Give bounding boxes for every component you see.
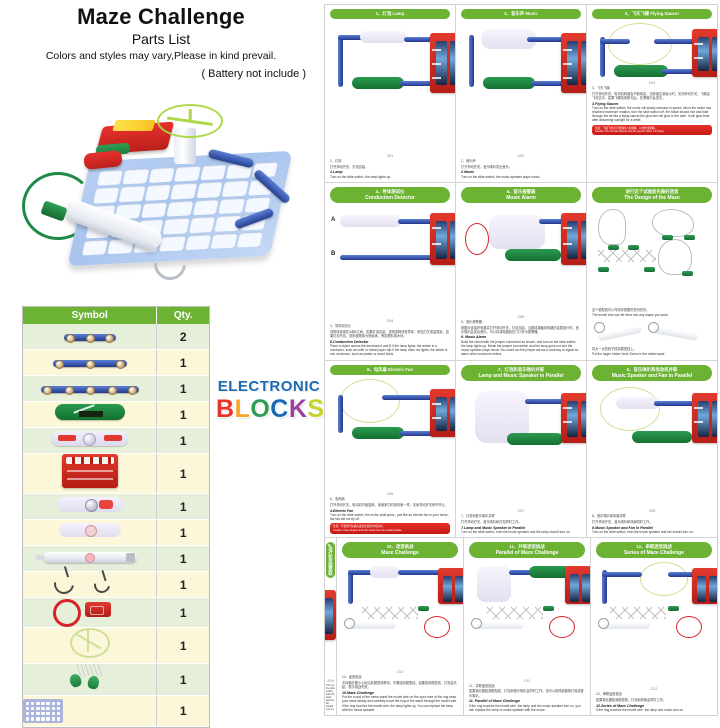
metal-hooks-icon: [50, 572, 130, 592]
card-body-cn: 将物体放置在A和B之间，如果灯泡亮起，说明该物体是导体，例如刀叉或金属纸。如果灯…: [330, 330, 450, 338]
maze-note2-en: Put the larger holder hook Screw in the …: [592, 352, 712, 356]
card-body-cn: 打开滑动开关，电动机转速会不断增加，当转速达到最大时，关闭滑动开关，飞碟会飞向空…: [592, 92, 712, 100]
part-symbol-cell: [23, 376, 157, 402]
card-body-en: Build the circuit with the jumper connec…: [461, 340, 581, 357]
card-figure: 211: [469, 560, 585, 683]
card-figure: 209: [326, 580, 335, 683]
card-figure: 212: [596, 560, 712, 691]
card-music[interactable]: 2、音乐声 Music 202 2、音乐声 打开滑动开关，音乐喚叭发出音乐。: [456, 5, 587, 182]
card-title-en: Parallel of Maze Challenge: [471, 550, 583, 556]
left-column: Maze Challenge Parts List Colors and sty…: [0, 0, 322, 720]
card-row-1: 1、灯泡 Lamp 201 1、灯泡 打开滑动开关，灯泡亮: [325, 5, 717, 183]
card-body-cn: 如果钢丝圈碰到模型线，灯泡和音乐喚叭会同时工作。也可以用风扇替换灯泡或音乐喚叭。: [469, 689, 585, 697]
card-body-cn-title: 8、音乐喚叭和风扇并联: [592, 514, 712, 518]
table-row: 1: [23, 494, 209, 520]
card-series-maze[interactable]: 12、串联迷宫挑战 Series of Maze Challenge: [591, 538, 717, 715]
card-body-cn-title: 7、灯泡和音乐喚叭并联: [461, 514, 581, 518]
card-header: 7、灯泡和音乐喚叭并联 Lamp and Music Speaker in Pa…: [461, 365, 581, 381]
card-body-cn-title: 1、灯泡: [330, 159, 450, 163]
part-qty: 1: [157, 428, 209, 454]
card-figure: 203: [592, 21, 712, 85]
battery-note: ( Battery not include ): [0, 67, 322, 82]
battery-holder-icon: [62, 454, 118, 488]
card-maze-design[interactable]: 进行这个试验前先做好迷宫 The Design of the Maze: [587, 183, 717, 360]
terminal-label-b: B: [331, 251, 335, 257]
part-symbol-cell: [23, 428, 157, 454]
part-qty: 2: [157, 324, 209, 350]
poster-root: Maze Challenge Parts List Colors and sty…: [0, 0, 720, 720]
part-symbol-cell: [23, 402, 157, 428]
card-title-cn: 12、串联迷宫挑战: [598, 544, 710, 550]
led-lights-icon: [66, 664, 114, 690]
logo-blocks-text: BLOCKS: [216, 396, 322, 423]
logo-letter-c: C: [270, 395, 289, 423]
slide-switch-icon: [55, 404, 125, 420]
card-lamp-fan-series-clipped[interactable]: 9、电灯和风扇串联 209 Turn on the slide switch, …: [325, 538, 337, 715]
table-row: 1: [23, 572, 209, 598]
logo-letter-o: O: [250, 395, 270, 423]
probe-wand-icon: [43, 552, 137, 563]
card-conduction-detector[interactable]: 4、导体测试仪 Conduction Detector A B 204 4、导体…: [325, 183, 456, 360]
card-music-alarm[interactable]: 5、音乐报警器 Music Alarm 205 5、音乐报警器 按图示连接好电路…: [456, 183, 587, 360]
page-title: Maze Challenge: [0, 4, 322, 30]
maze-shape-squirrel: [598, 209, 626, 245]
music-speaker-icon: [57, 497, 123, 512]
warning-box: 注意：不要把手指或头发靠近旋转中的扇叶。 Caution: Keep finge…: [330, 523, 450, 534]
card-body-cn: 打开滑动开关，音乐喚叭和灯泡同时工作。: [461, 520, 581, 524]
table-row: 2: [23, 324, 209, 350]
product-photo: [22, 96, 322, 296]
card-header: 2、音乐声 Music: [461, 9, 581, 19]
3-snap-wire-icon: [53, 360, 127, 367]
maze-note2-cn: 将大一点的钩子插到模型线上。: [592, 347, 712, 351]
card-figure: 207: [461, 383, 581, 514]
card-figure-probes: [592, 320, 712, 346]
logo-electronic-text: ELECTRONIC: [216, 378, 322, 396]
figure-number: 209: [327, 678, 334, 683]
fan-blade-icon: [70, 628, 110, 658]
card-title-cn: 10、迷宫挑战: [344, 544, 456, 550]
part-qty: 1: [157, 494, 209, 520]
card-figure: 206: [330, 377, 450, 497]
5-snap-wire-icon: [41, 386, 139, 393]
card-parallel-maze[interactable]: 11、并联迷宫挑战 Parallel of Maze Challenge: [464, 538, 591, 715]
fan-blade-photo: [157, 104, 223, 138]
card-body: 8、音乐喚叭和风扇并联 打开滑动开关，音乐喚叭和风扇同时工作。 8.Music …: [592, 514, 712, 534]
card-body-cn: 按图示连接好电路并打开滑动开关，灯泡亮起。当跳线接触到电路的金属部分时，音乐喚叭…: [461, 326, 581, 334]
table-row: 1: [23, 628, 209, 664]
card-title-cn: 11、并联迷宫挑战: [471, 544, 583, 550]
card-body-cn-title: 4、导体测试仪: [330, 324, 450, 328]
card-body-en: Turn on the slide switch, both the music…: [592, 530, 712, 534]
part-symbol-cell: [23, 324, 157, 350]
card-body: 11、并联迷宫挑战 如果钢丝圈碰到模型线，灯泡和音乐喚叭会同时工作。也可以用风扇…: [469, 684, 585, 712]
card-body-en: Turn on the slide switch, the music spea…: [461, 175, 581, 179]
warning-cn: 注意：不要把手指或头发靠近旋转中的扇叶。: [333, 525, 385, 528]
figure-number: 212: [651, 686, 658, 691]
yellow-block-photo: [112, 120, 156, 131]
part-qty: 1: [157, 696, 209, 727]
figure-number: 207: [518, 508, 525, 513]
table-row: 1: [23, 664, 209, 696]
card-body: 6、电风扇 打开滑动开关，电动机开始旋转，就像家中的电风扇一样。关闭滑动开关即可…: [330, 497, 450, 534]
table-row: 1: [23, 598, 209, 628]
card-title-en: Music Speaker and Fan in Parallel: [594, 373, 710, 379]
card-figure: 201: [330, 21, 450, 158]
table-row: 1: [23, 454, 209, 494]
part-symbol-cell: [23, 520, 157, 546]
table-row: 1: [23, 402, 209, 428]
card-figure: 208: [592, 383, 712, 514]
part-symbol-cell: [23, 664, 157, 696]
part-symbol-cell: [23, 598, 157, 628]
terminal-label-a: A: [331, 217, 335, 223]
card-body-en: Turn on the slide switch, both the music…: [461, 530, 581, 534]
instruction-card-grid: 1、灯泡 Lamp 201 1、灯泡 打开滑动开关，灯泡亮: [324, 4, 718, 716]
card-title-cn: 4、导体测试仪: [332, 189, 448, 195]
card-body-cn: 打开滑动开关，电动机开始旋转，就像家中的电风扇一样。关闭滑动开关即可停止。: [330, 503, 450, 507]
card-body: Turn on the slide switch, both the lamp …: [326, 684, 335, 711]
card-body: 12、串联迷宫挑战 如果钢丝圈碰到模型线，灯泡和风扇会同时工作。 12.Seri…: [596, 692, 712, 712]
figure-number: 210: [397, 669, 404, 674]
maze-shape-cat: [652, 209, 694, 237]
card-header: 进行这个试验前先做好迷宫 The Design of the Maze: [592, 187, 712, 203]
logo-letter-l: L: [235, 395, 251, 423]
card-title-cn: 3、飞天飞碟 Flying Saucer: [594, 11, 710, 17]
figure-number: 201: [387, 153, 394, 158]
card-title-cn: 5、音乐报警器: [463, 189, 579, 195]
card-body-en: Turn on the slide switch, the lamp light…: [330, 175, 450, 179]
card-title-en: Series of Maze Challenge: [598, 550, 710, 556]
title-block: Maze Challenge Parts List Colors and sty…: [0, 4, 322, 82]
part-qty: 1: [157, 664, 209, 696]
card-header: 11、并联迷宫挑战 Parallel of Maze Challenge: [469, 542, 585, 558]
card-body-en: If the ring touches the model wire ,the …: [596, 708, 712, 712]
card-row-3: 6、电风扇 Electric Fan 206 6、电风扇 打开滑动开关，电动机开…: [325, 361, 717, 539]
card-body-en: Turn on the slide switch, the motor shal…: [330, 513, 450, 521]
card-body-cn-title: 5、音乐报警器: [461, 320, 581, 324]
card-body: 3、飞天飞碟 打开滑动开关，电动机转速会不断增加，当转速达到最大时，关闭滑动开关…: [592, 86, 712, 135]
table-row: 1: [23, 350, 209, 376]
red-ring-clip-icon: [51, 598, 129, 622]
card-body-cn: 打开滑动开关，音乐喚叭和风扇同时工作。: [592, 520, 712, 524]
card-body: 5、音乐报警器 按图示连接好电路并打开滑动开关，灯泡亮起。当跳线接触到电路的金属…: [461, 320, 581, 357]
card-body-en: Turn on the slide switch, the motor will…: [592, 106, 712, 123]
warning-en: Caution: Keep fingers and hair away from…: [333, 529, 447, 532]
card-title-cn: 9、电灯和风扇串联: [328, 544, 333, 576]
card-title-cn: 8、音乐喚叭和电动机并联: [594, 367, 710, 373]
maze-shape-head: [658, 239, 692, 275]
card-flying-saucer[interactable]: 3、飞天飞碟 Flying Saucer 203 3、飞天飞碟: [587, 5, 717, 182]
warning-box: 注意：飞碟飞出时不要朝向人的眼睛，以免伤害眼睛。 Caution: Do not…: [592, 125, 712, 136]
part-qty: 1: [157, 572, 209, 598]
card-title-cn: 2、音乐声 Music: [463, 11, 579, 17]
card-body: 1、灯泡 打开滑动开关，灯泡亮起。 1.Lamp Turn on the sli…: [330, 159, 450, 179]
part-qty: 1: [157, 598, 209, 628]
card-figure: 210: [342, 560, 458, 674]
card-title-cn: 6、电风扇 Electric Fan: [332, 367, 448, 373]
card-body-2: 将大一点的钩子插到模型线上。 Put the larger holder hoo…: [592, 347, 712, 357]
part-qty: 1: [157, 454, 209, 494]
card-body: 4、导体测试仪 将物体放置在A和B之间，如果灯泡亮起，说明该物体是导体，例如刀叉…: [330, 324, 450, 356]
card-body: 10、迷宫挑战 手持钢丝圈小心地沿着模型线移动，不要碰到模型线，如果碰到模型线，…: [342, 675, 458, 712]
figure-number: 206: [387, 491, 394, 496]
logo-letter-s: S: [307, 395, 324, 423]
card-header: 1、灯泡 Lamp: [330, 9, 450, 19]
warning-en: Caution: Do not look directly into the s…: [595, 130, 709, 133]
card-title-en: Music Alarm: [463, 195, 579, 201]
card-title-en: The Design of the Maze: [594, 195, 710, 201]
part-symbol-cell: [23, 494, 157, 520]
card-header: 4、导体测试仪 Conduction Detector: [330, 187, 450, 203]
card-maze-challenge[interactable]: 10、迷宫挑战 Maze Challenge 2: [337, 538, 464, 715]
card-body-cn-title: 3、飞天飞碟: [592, 86, 712, 90]
card-body-en: Turn on the slide switch, both the lamp …: [326, 684, 335, 711]
card-body-cn: 打开滑动开关，灯泡亮起。: [330, 165, 450, 169]
part-qty: 1: [157, 628, 209, 664]
card-figure: A B 204: [330, 205, 450, 323]
part-symbol-cell: [23, 546, 157, 572]
part-qty: 1: [157, 546, 209, 572]
card-header: 12、串联迷宫挑战 Series of Maze Challenge: [596, 542, 712, 558]
colors-note: Colors and styles may vary,Please in kin…: [0, 49, 322, 63]
maze-note-cn: 这个模型线可以弯成你想要的任何形状。: [592, 308, 712, 312]
card-body-en: If the ring touches the model wire ,the …: [469, 704, 585, 712]
card-figure: [592, 205, 712, 307]
part-symbol-cell: [23, 628, 157, 664]
lamp-block-icon: [52, 431, 128, 446]
parts-table: Symbol Qty. 2 1: [22, 306, 210, 728]
card-header: 8、音乐喚叭和电动机并联 Music Speaker and Fan in Pa…: [592, 365, 712, 381]
card-figure: 202: [461, 21, 581, 158]
card-header: 10、迷宫挑战 Maze Challenge: [342, 542, 458, 558]
figure-number: 208: [649, 508, 656, 513]
part-qty: 1: [157, 350, 209, 376]
maze-note-en: The model wire can be bend into any shap…: [592, 313, 712, 317]
motor-block-icon: [59, 523, 121, 537]
card-speaker-fan-parallel[interactable]: 8、音乐喚叭和电动机并联 Music Speaker and Fan in Pa…: [587, 361, 717, 538]
2-snap-wire-icon: [64, 334, 116, 341]
card-figure: 205: [461, 205, 581, 319]
figure-number: 202: [518, 153, 525, 158]
card-body: 这个模型线可以弯成你想要的任何形状。 The model wire can be…: [592, 308, 712, 318]
logo-letter-k: K: [289, 395, 308, 423]
base-grid-board-icon: [23, 699, 63, 723]
col-header-symbol: Symbol: [23, 307, 157, 324]
part-qty: 1: [157, 376, 209, 402]
card-row-2: 4、导体测试仪 Conduction Detector A B 204 4、导体…: [325, 183, 717, 361]
card-row-4: 9、电灯和风扇串联 209 Turn on the slide switch, …: [325, 538, 717, 715]
page-subtitle: Parts List: [0, 30, 322, 48]
table-row: 1: [23, 376, 209, 402]
card-body-en: Place a object across the terminals A an…: [330, 344, 450, 357]
card-title-en: Conduction Detector: [332, 195, 448, 201]
card-body-cn-title: 2、音乐声: [461, 159, 581, 163]
card-electric-fan[interactable]: 6、电风扇 Electric Fan 206 6、电风扇 打开滑动开关，电动机开…: [325, 361, 456, 538]
col-header-qty: Qty.: [157, 307, 209, 324]
table-row: 1: [23, 696, 209, 727]
part-symbol-cell: [23, 572, 157, 598]
part-symbol-cell: [23, 350, 157, 376]
card-header: 9、电灯和风扇串联: [326, 542, 335, 578]
card-header: 5、音乐报警器 Music Alarm: [461, 187, 581, 203]
card-title-cn: 7、灯泡和音乐喚叭并联: [463, 367, 579, 373]
figure-number: 203: [649, 80, 656, 85]
figure-number: 211: [524, 678, 530, 683]
card-title-en: Lamp and Music Speaker in Parallel: [463, 373, 579, 379]
card-body-cn: 打开滑动开关，音乐喚叭发出音乐。: [461, 165, 581, 169]
card-header: 3、飞天飞碟 Flying Saucer: [592, 9, 712, 19]
part-symbol-cell: [23, 696, 157, 727]
brand-logo: ELECTRONIC BLOCKS: [216, 378, 322, 436]
table-row: 1: [23, 428, 209, 454]
table-row: 1: [23, 520, 209, 546]
card-lamp[interactable]: 1、灯泡 Lamp 201 1、灯泡 打开滑动开关，灯泡亮: [325, 5, 456, 182]
card-body-cn: 手持钢丝圈小心地沿着模型线移动，不要碰到模型线，如果碰到模型线，灯泡会亮起，表示…: [342, 681, 458, 689]
card-body-cn-title: 6、电风扇: [330, 497, 450, 501]
card-header: 6、电风扇 Electric Fan: [330, 365, 450, 375]
card-title-cn: 1、灯泡 Lamp: [332, 11, 448, 17]
maze-shape-zigzag: [598, 247, 656, 265]
part-qty: 1: [157, 520, 209, 546]
card-body: 7、灯泡和音乐喚叭并联 打开滑动开关，音乐喚叭和灯泡同时工作。 7.Lamp a…: [461, 514, 581, 534]
card-body-en: Put the round of the metal wand the mode…: [342, 695, 458, 712]
card-body-cn-title: 11、并联迷宫挑战: [469, 684, 585, 688]
table-row: 1: [23, 546, 209, 572]
card-title-cn: 进行这个试验前先做好迷宫: [594, 189, 710, 195]
card-body: 2、音乐声 打开滑动开关，音乐喚叭发出音乐。 2.Music Turn on t…: [461, 159, 581, 179]
card-body-cn-title: 12、串联迷宫挑战: [596, 692, 712, 696]
figure-number: 205: [518, 314, 525, 319]
figure-number: 204: [387, 318, 394, 323]
card-title-en: Maze Challenge: [344, 550, 456, 556]
part-symbol-cell: [23, 454, 157, 494]
card-body-cn-title: 10、迷宫挑战: [342, 675, 458, 679]
card-lamp-speaker-parallel[interactable]: 7、灯泡和音乐喚叭并联 Lamp and Music Speaker in Pa…: [456, 361, 587, 538]
logo-letter-b: B: [216, 395, 235, 423]
part-qty: 1: [157, 402, 209, 428]
card-body-cn: 如果钢丝圈碰到模型线，灯泡和风扇会同时工作。: [596, 698, 712, 702]
